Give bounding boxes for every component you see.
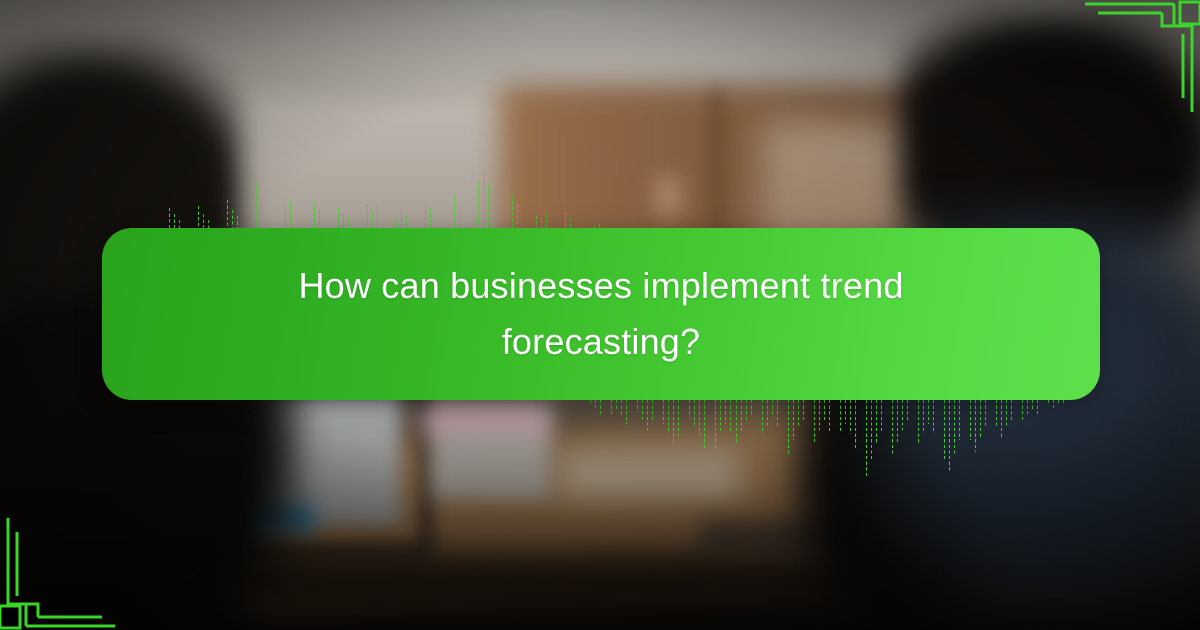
waveform-bar: [663, 400, 664, 424]
waveform-bar: [798, 400, 799, 428]
waveform-bar: [855, 400, 856, 448]
waveform-bar: [704, 400, 705, 450]
waveform-bar: [725, 400, 726, 424]
waveform-bar: [835, 400, 836, 444]
waveform-bar: [897, 400, 898, 442]
waveform-bar: [1063, 400, 1064, 404]
waveform-bar: [1058, 400, 1059, 405]
waveform-bar: [751, 400, 752, 416]
waveform-bar: [975, 400, 976, 452]
waveform-bar: [965, 400, 966, 430]
waveform-bar: [595, 400, 596, 408]
waveform-bar: [746, 400, 747, 422]
question-line-2: forecasting?: [298, 314, 903, 370]
audio-waveform-bottom: [590, 400, 1068, 482]
waveform-bar: [970, 400, 971, 440]
waveform-bar: [876, 400, 877, 444]
waveform-bar: [1011, 400, 1012, 420]
waveform-bar: [736, 400, 737, 444]
waveform-bar: [1053, 400, 1054, 408]
waveform-bar: [949, 400, 950, 472]
waveform-bar: [699, 400, 700, 436]
waveform-bar: [621, 400, 622, 416]
waveform-bar: [913, 400, 914, 432]
waveform-bar: [923, 400, 924, 434]
waveform-bar: [829, 400, 830, 432]
waveform-bar: [1022, 400, 1023, 420]
waveform-bar: [762, 400, 763, 434]
waveform-bar: [606, 400, 607, 420]
waveform-bar: [684, 400, 685, 426]
waveform-bar: [757, 400, 758, 424]
waveform-bar: [590, 400, 591, 404]
waveform-bar: [772, 400, 773, 418]
waveform-bar: [850, 400, 851, 434]
waveform-bar: [980, 400, 981, 438]
waveform-bar: [944, 400, 945, 460]
waveform-bar: [814, 400, 815, 442]
waveform-bar: [803, 400, 804, 420]
waveform-bar: [673, 400, 674, 446]
waveform-bar: [637, 400, 638, 412]
waveform-bar: [866, 400, 867, 476]
waveform-bar: [1032, 400, 1033, 410]
waveform-bar: [668, 400, 669, 434]
waveform-bar: [996, 400, 997, 428]
waveform-bar: [959, 400, 960, 440]
waveform-bar: [840, 400, 841, 432]
question-card[interactable]: How can businesses implement trendforeca…: [102, 228, 1100, 400]
waveform-bar: [824, 400, 825, 422]
waveform-bar: [632, 400, 633, 418]
waveform-bar: [715, 400, 716, 448]
question-text: How can businesses implement trendforeca…: [298, 258, 903, 370]
waveform-bar: [819, 400, 820, 430]
screenshot-canvas: How can businesses implement trendforeca…: [0, 0, 1200, 630]
circuit-corner-top-right-icon: [1040, 0, 1200, 118]
waveform-bar: [871, 400, 872, 460]
waveform-bar: [689, 400, 690, 418]
waveform-bar: [720, 400, 721, 434]
waveform-bar: [600, 400, 601, 414]
question-line-1: How can businesses implement trend: [298, 258, 903, 314]
waveform-bar: [845, 400, 846, 424]
waveform-bar: [611, 400, 612, 414]
waveform-bar: [1027, 400, 1028, 414]
waveform-bar: [658, 400, 659, 416]
waveform-bar: [907, 400, 908, 422]
waveform-bar: [626, 400, 627, 424]
waveform-bar: [678, 400, 679, 436]
waveform-bar: [1006, 400, 1007, 428]
waveform-bar: [939, 400, 940, 446]
circuit-corner-bottom-left-icon: [0, 512, 160, 630]
waveform-bar: [616, 400, 617, 410]
waveform-bar: [881, 400, 882, 432]
waveform-bar: [788, 400, 789, 454]
waveform-bar: [730, 400, 731, 432]
waveform-bar: [887, 400, 888, 442]
waveform-bar: [861, 400, 862, 462]
waveform-bar: [1001, 400, 1002, 438]
waveform-bar: [767, 400, 768, 426]
waveform-bar: [809, 400, 810, 430]
waveform-bar: [954, 400, 955, 456]
waveform-bar: [991, 400, 992, 420]
waveform-bar: [928, 400, 929, 424]
waveform-bar: [1048, 400, 1049, 406]
waveform-bar: [652, 400, 653, 422]
waveform-bar: [892, 400, 893, 456]
waveform-bar: [783, 400, 784, 440]
waveform-bar: [1037, 400, 1038, 414]
waveform-bar: [985, 400, 986, 428]
waveform-bar: [741, 400, 742, 432]
waveform-bar: [642, 400, 643, 420]
waveform-bar: [694, 400, 695, 426]
waveform-bar: [647, 400, 648, 430]
waveform-bar: [918, 400, 919, 444]
waveform-bar: [710, 400, 711, 462]
waveform-bar: [902, 400, 903, 430]
waveform-bar: [933, 400, 934, 434]
waveform-bar: [793, 400, 794, 440]
audio-waveform-top: [155, 160, 613, 230]
waveform-bar: [1043, 400, 1044, 410]
waveform-bar: [1017, 400, 1018, 414]
waveform-bar: [777, 400, 778, 428]
